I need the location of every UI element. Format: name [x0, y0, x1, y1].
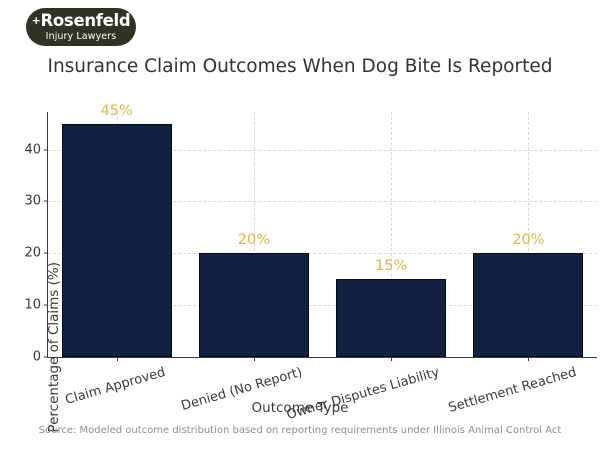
y-tick-mark — [44, 201, 48, 202]
bar-owner-disputes-liability[interactable] — [336, 279, 446, 357]
bar-value-label: 20% — [512, 232, 544, 248]
plot-area: 01020304045%Claim Approved20%Denied (No … — [47, 112, 597, 358]
source-note: Source: Modeled outcome distribution bas… — [0, 425, 600, 436]
bar-settlement-reached[interactable] — [473, 253, 583, 357]
x-tick-mark — [391, 357, 392, 361]
chart-title: Insurance Claim Outcomes When Dog Bite I… — [0, 56, 600, 77]
bar-value-label: 20% — [238, 232, 270, 248]
plus-cross-icon: + — [32, 15, 41, 26]
logo-name: Rosenfeld — [40, 13, 130, 30]
y-tick-label: 0 — [33, 350, 41, 365]
plot-inner: 01020304045%Claim Approved20%Denied (No … — [48, 112, 597, 357]
x-tick-mark — [528, 357, 529, 361]
bar-value-label: 45% — [101, 103, 133, 119]
rosenfeld-logo: +Rosenfeld Injury Lawyers — [26, 8, 136, 46]
bar-denied-no-report[interactable] — [199, 253, 309, 357]
x-tick-mark — [117, 357, 118, 361]
y-tick-mark — [44, 253, 48, 254]
logo-tagline: Injury Lawyers — [46, 32, 117, 42]
bar-claim-approved[interactable] — [62, 124, 172, 357]
y-tick-label: 20 — [24, 246, 41, 261]
x-axis-label: Outcome Type — [0, 400, 600, 416]
x-tick-mark — [254, 357, 255, 361]
y-tick-label: 40 — [24, 142, 41, 157]
y-tick-label: 10 — [24, 298, 41, 313]
bar-value-label: 15% — [375, 258, 407, 274]
y-tick-mark — [44, 149, 48, 150]
y-tick-label: 30 — [24, 194, 41, 209]
logo-wordmark-row: +Rosenfeld — [32, 13, 131, 30]
